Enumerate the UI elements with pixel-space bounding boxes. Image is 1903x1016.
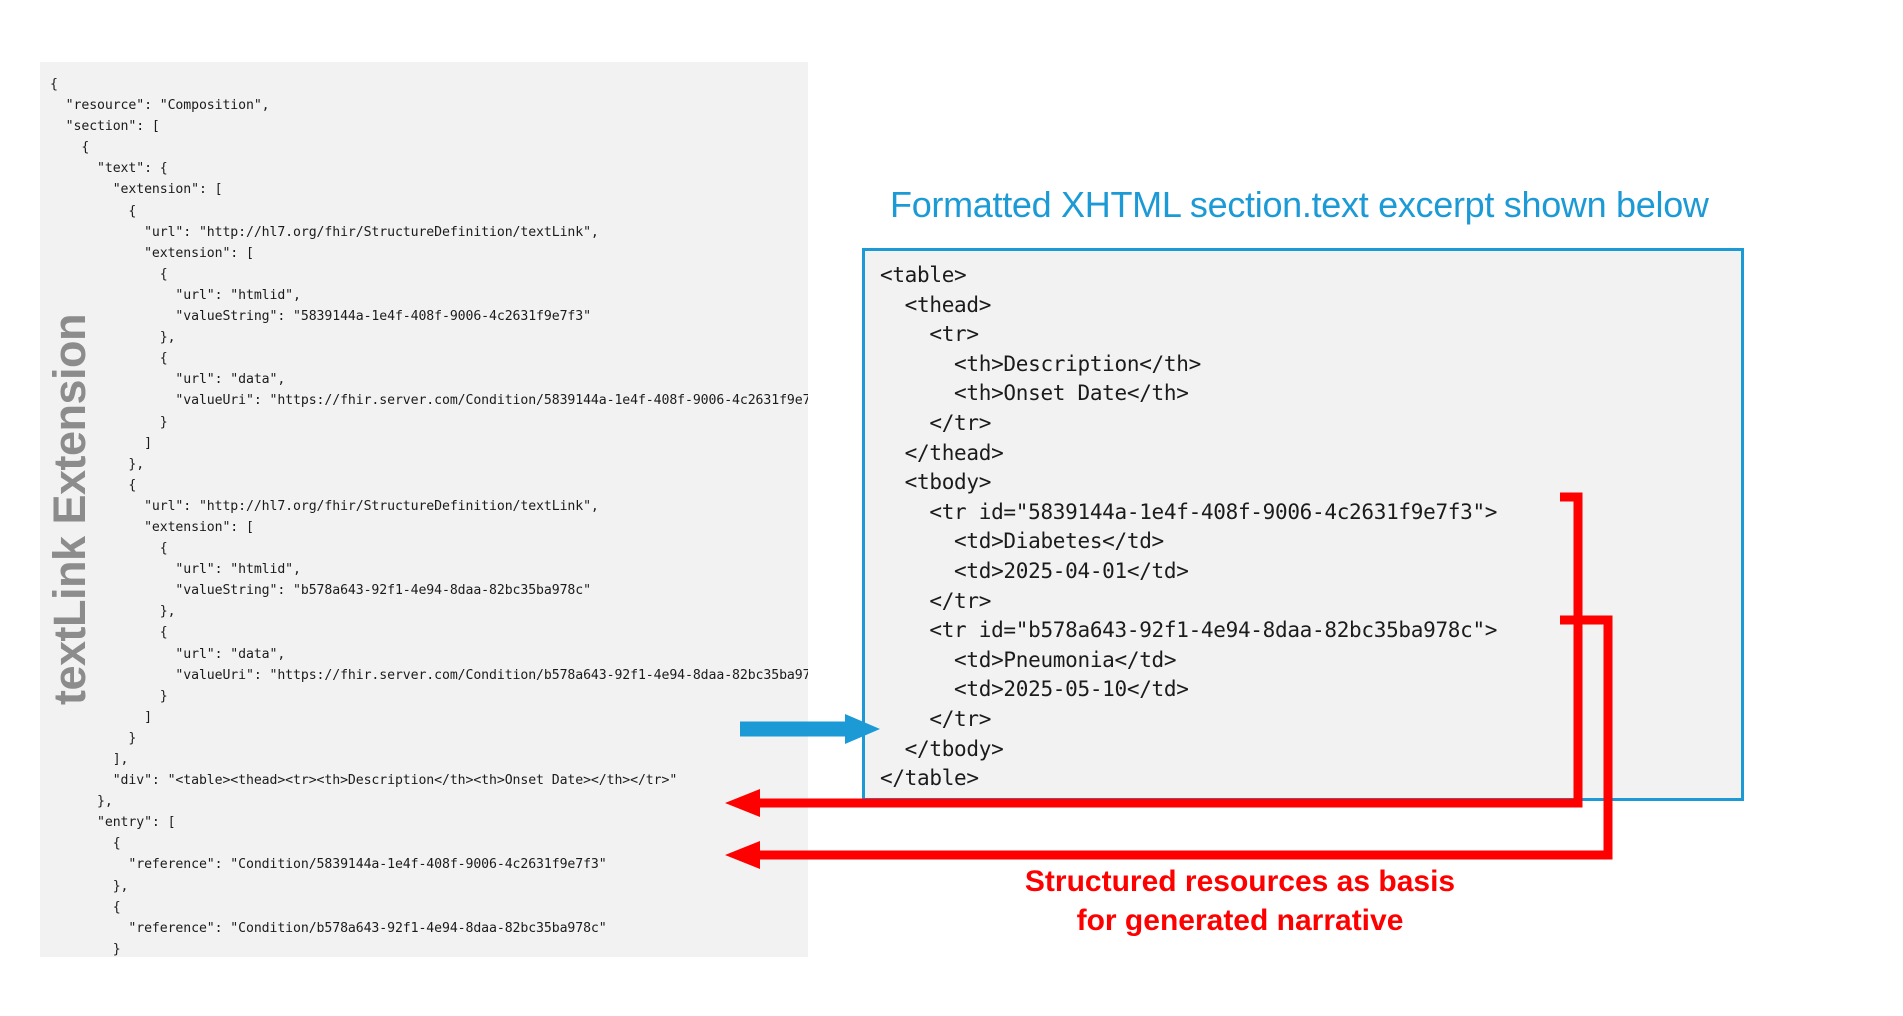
xhtml-excerpt-heading: Formatted XHTML section.text excerpt sho… [890, 184, 1709, 226]
structured-resources-caption: Structured resources as basis for genera… [910, 862, 1570, 940]
xhtml-excerpt-panel: <table> <thead> <tr> <th>Description</th… [862, 248, 1744, 801]
xhtml-excerpt-code: <table> <thead> <tr> <th>Description</th… [880, 261, 1497, 794]
fhir-json-panel: { "resource": "Composition", "section": … [40, 62, 808, 957]
fhir-json-code: { "resource": "Composition", "section": … [50, 74, 808, 957]
